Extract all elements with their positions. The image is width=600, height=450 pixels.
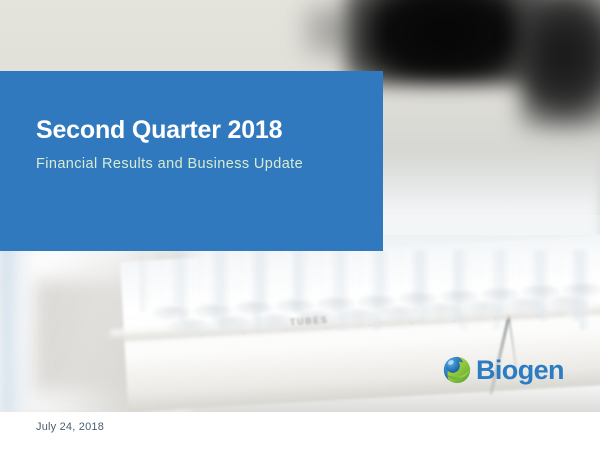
title-banner: Second Quarter 2018 Financial Results an… — [0, 71, 383, 251]
photo-rack-well — [378, 305, 422, 322]
slide-title: Second Quarter 2018 — [36, 115, 366, 145]
photo-dark-equipment-right — [520, 0, 600, 130]
photo-rack-tick: ·· — [452, 319, 455, 325]
biogen-wordmark: Biogen — [476, 357, 564, 384]
photo-rack-tick: ·· — [368, 323, 371, 329]
photo-rack-well — [462, 300, 506, 317]
photo-rack-tick: ·· — [326, 326, 329, 332]
photo-left-tint — [0, 240, 40, 412]
title-banner-content: Second Quarter 2018 Financial Results an… — [36, 115, 366, 174]
photo-rack-tick: ·· — [242, 331, 245, 337]
presentation-slide: ·················· TUBES Second Quarter … — [0, 0, 600, 450]
photo-test-tube — [138, 250, 182, 312]
photo-rack-tick: ·· — [494, 316, 497, 322]
photo-rack-well — [546, 295, 590, 312]
photo-rack-tick: ·· — [536, 314, 539, 320]
photo-rack-well — [168, 318, 212, 335]
photo-rack-well — [336, 308, 380, 325]
photo-rack-tick: ·· — [410, 321, 413, 327]
photo-rack-tick: ·· — [284, 328, 287, 334]
slide-date: July 24, 2018 — [36, 421, 104, 433]
photo-rack-tick: ·· — [200, 333, 203, 339]
slide-subtitle: Financial Results and Business Update — [36, 155, 366, 174]
biogen-sphere-icon — [442, 355, 472, 385]
biogen-logo: Biogen — [442, 355, 564, 385]
photo-dark-shadow — [300, 0, 370, 60]
slide-footer: July 24, 2018 — [0, 412, 600, 450]
